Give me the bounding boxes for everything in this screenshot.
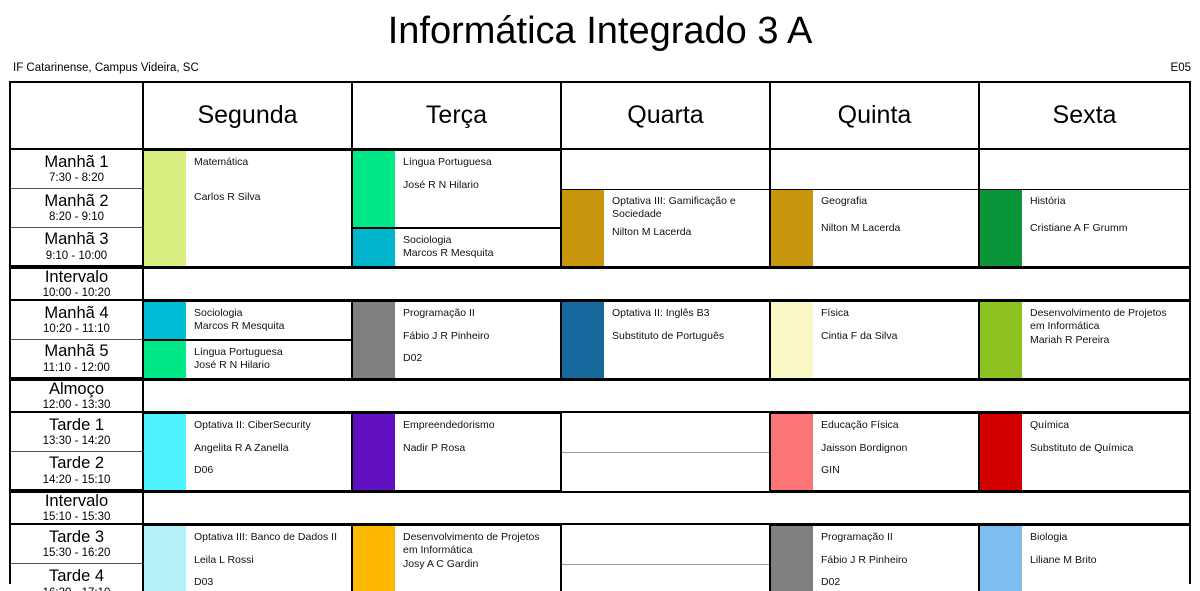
event-block[interactable]: História Cristiane A F Grumm [980,189,1189,267]
event-color-swatch [353,229,395,266]
event-color-swatch [144,526,186,591]
event-subject: Geografia [821,195,972,208]
event-subject: Desenvolvimento de Projetos em Informáti… [403,531,554,556]
event-subject: Química [1030,419,1183,432]
period-label-tarde-4: Tarde 4 16:20 - 17:10 [11,564,144,591]
event-room: D06 [194,464,345,477]
event-block[interactable]: Matemática Carlos R Silva [144,150,351,267]
event-subject: Desenvolvimento de Projetos em Informáti… [1030,307,1183,332]
event-teacher: Jaisson Bordignon [821,442,972,455]
event-subject: Sociologia [194,307,345,320]
event-color-swatch [144,151,186,266]
event-room: D02 [403,352,554,365]
event-teacher: Nadir P Rosa [403,442,554,455]
period-label-intervalo-tarde: Intervalo 15:10 - 15:30 [11,491,144,525]
day-header-sexta: Sexta [980,83,1189,150]
event-block[interactable]: Língua Portuguesa José R N Hilario [353,150,560,228]
event-teacher: Cintia F da Silva [821,330,972,343]
event-subject: Biologia [1030,531,1183,544]
event-block[interactable]: Optativa III: Gamificação e Sociedade Ni… [562,189,769,267]
slot-quarta-manha-1[interactable] [562,150,771,189]
slot-sexta-manha-1[interactable] [980,150,1189,189]
event-subject: Programação II [403,307,554,320]
event-color-swatch [562,302,604,378]
slot-terca-tarde-12[interactable]: Empreendedorismo Nadir P Rosa [353,413,562,491]
event-teacher: Fábio J R Pinheiro [403,330,554,343]
period-label-manha-4: Manhã 4 10:20 - 11:10 [11,301,144,340]
break-row-intervalo-tarde [144,491,1189,525]
slot-quarta-manha-23[interactable]: Optativa III: Gamificação e Sociedade Ni… [562,189,771,267]
page-title: Informática Integrado 3 A [0,8,1200,54]
event-subject: Língua Portuguesa [194,346,345,359]
event-teacher: Substituto de Química [1030,442,1183,455]
slot-quinta-manha-1[interactable] [771,150,980,189]
event-teacher: José R N Hilario [194,359,345,372]
event-block[interactable]: Programação II Fábio J R Pinheiro D02 [771,525,978,591]
event-room: GIN [821,464,972,477]
slot-quinta-manha-45[interactable]: Física Cintia F da Silva [771,301,980,379]
day-header-terca: Terça [353,83,562,150]
event-teacher: Leila L Rossi [194,554,345,567]
slot-segunda-tarde-12[interactable]: Optativa II: CiberSecurity Angelita R A … [144,413,353,491]
event-room: D02 [821,576,972,589]
subheader: IF Catarinense, Campus Videira, SC E05 [0,62,1200,76]
event-subject: Educação Física [821,419,972,432]
event-subject: Optativa II: CiberSecurity [194,419,345,432]
event-block[interactable]: Química Substituto de Química [980,413,1189,491]
event-block[interactable]: Optativa II: Inglês B3 Substituto de Por… [562,301,769,379]
event-subject: Optativa III: Banco de Dados II [194,531,345,544]
event-color-swatch [353,526,395,591]
day-header-segunda: Segunda [144,83,353,150]
event-teacher: Nilton M Lacerda [821,222,972,235]
event-block[interactable]: Geografia Nilton M Lacerda [771,189,978,267]
event-block[interactable]: Programação II Fábio J R Pinheiro D02 [353,301,560,379]
slot-quinta-tarde-12[interactable]: Educação Física Jaisson Bordignon GIN [771,413,980,491]
event-teacher: Fábio J R Pinheiro [821,554,972,567]
event-block[interactable]: Biologia Liliane M Brito [980,525,1189,591]
event-teacher: Angelita R A Zanella [194,442,345,455]
event-teacher: Marcos R Mesquita [194,320,345,333]
event-teacher: Nilton M Lacerda [612,226,763,239]
day-header-quinta: Quinta [771,83,980,150]
slot-terca-manha-12[interactable]: Língua Portuguesa José R N Hilario [353,150,562,228]
event-color-swatch [771,414,813,490]
timetable-grid: Segunda Terça Quarta Quinta Sexta Manhã … [9,81,1191,584]
event-color-swatch [980,302,1022,378]
event-color-swatch [144,302,186,339]
break-row-almoco [144,379,1189,413]
slot-segunda-manha-123[interactable]: Matemática Carlos R Silva [144,150,353,267]
event-color-swatch [980,190,1022,266]
period-label-tarde-2: Tarde 2 14:20 - 15:10 [11,452,144,491]
event-subject: Física [821,307,972,320]
slot-quinta-manha-23[interactable]: Geografia Nilton M Lacerda [771,189,980,267]
event-subject: Matemática [194,156,345,169]
period-label-intervalo-manha: Intervalo 10:00 - 10:20 [11,267,144,301]
event-block[interactable]: Empreendedorismo Nadir P Rosa [353,413,560,491]
room-code-label: E05 [1171,62,1191,74]
slot-sexta-manha-23[interactable]: História Cristiane A F Grumm [980,189,1189,267]
event-block[interactable]: Sociologia Marcos R Mesquita [144,301,351,340]
slot-terca-tarde-34[interactable]: Desenvolvimento de Projetos em Informáti… [353,525,562,591]
slot-quarta-manha-45[interactable]: Optativa II: Inglês B3 Substituto de Por… [562,301,771,379]
event-color-swatch [771,526,813,591]
event-teacher: Mariah R Pereira [1030,334,1183,347]
event-teacher: Liliane M Brito [1030,554,1183,567]
slot-quarta-tarde-34[interactable] [562,525,771,591]
event-teacher: José R N Hilario [403,179,554,192]
event-color-swatch [353,302,395,378]
event-teacher: Marcos R Mesquita [403,247,554,260]
slot-terca-manha-3[interactable]: Sociologia Marcos R Mesquita [353,228,562,267]
period-label-tarde-1: Tarde 1 13:30 - 14:20 [11,413,144,452]
period-label-manha-1: Manhã 1 7:30 - 8:20 [11,150,144,189]
event-color-swatch [353,414,395,490]
grid-corner [11,83,144,150]
event-block[interactable]: Língua Portuguesa José R N Hilario [144,340,351,379]
event-subject: Programação II [821,531,972,544]
period-label-manha-2: Manhã 2 8:20 - 9:10 [11,189,144,228]
event-color-swatch [144,341,186,378]
event-subject: Optativa III: Gamificação e Sociedade [612,195,763,220]
event-color-swatch [771,302,813,378]
slot-terca-manha-45[interactable]: Programação II Fábio J R Pinheiro D02 [353,301,562,379]
event-teacher: Carlos R Silva [194,191,345,204]
event-subject: Língua Portuguesa [403,156,554,169]
slot-sexta-manha-45[interactable]: Desenvolvimento de Projetos em Informáti… [980,301,1189,379]
event-teacher: Cristiane A F Grumm [1030,222,1183,235]
break-row-intervalo-manha [144,267,1189,301]
event-color-swatch [562,190,604,266]
timetable-page: Informática Integrado 3 A IF Catarinense… [0,0,1200,591]
event-teacher: Substituto de Português [612,330,763,343]
event-block[interactable]: Educação Física Jaisson Bordignon GIN [771,413,978,491]
event-block[interactable]: Sociologia Marcos R Mesquita [353,228,560,267]
event-subject: Sociologia [403,234,554,247]
slot-sexta-tarde-12[interactable]: Química Substituto de Química [980,413,1189,491]
event-subject: Empreendedorismo [403,419,554,432]
event-block[interactable]: Física Cintia F da Silva [771,301,978,379]
period-label-tarde-3: Tarde 3 15:30 - 16:20 [11,525,144,564]
slot-sexta-tarde-34[interactable]: Biologia Liliane M Brito [980,525,1189,591]
event-block[interactable]: Desenvolvimento de Projetos em Informáti… [353,525,560,591]
slot-segunda-manha-5[interactable]: Língua Portuguesa José R N Hilario [144,340,353,379]
event-color-swatch [771,190,813,266]
period-label-almoco: Almoço 12:00 - 13:30 [11,379,144,413]
event-room: D03 [194,576,345,589]
event-teacher: Josy A C Gardin [403,558,554,571]
event-color-swatch [980,526,1022,591]
institution-label: IF Catarinense, Campus Videira, SC [13,62,199,74]
event-color-swatch [980,414,1022,490]
event-subject: História [1030,195,1183,208]
event-block[interactable]: Optativa III: Banco de Dados II Leila L … [144,525,351,591]
event-color-swatch [144,414,186,490]
event-block[interactable]: Desenvolvimento de Projetos em Informáti… [980,301,1189,379]
slot-quarta-tarde-12[interactable] [562,413,771,491]
slot-segunda-manha-4[interactable]: Sociologia Marcos R Mesquita [144,301,353,340]
event-block[interactable]: Optativa II: CiberSecurity Angelita R A … [144,413,351,491]
event-color-swatch [353,151,395,227]
slot-segunda-tarde-34[interactable]: Optativa III: Banco de Dados II Leila L … [144,525,353,591]
period-label-manha-3: Manhã 3 9:10 - 10:00 [11,228,144,267]
day-header-quarta: Quarta [562,83,771,150]
slot-quinta-tarde-34[interactable]: Programação II Fábio J R Pinheiro D02 [771,525,980,591]
event-subject: Optativa II: Inglês B3 [612,307,763,320]
period-label-manha-5: Manhã 5 11:10 - 12:00 [11,340,144,379]
